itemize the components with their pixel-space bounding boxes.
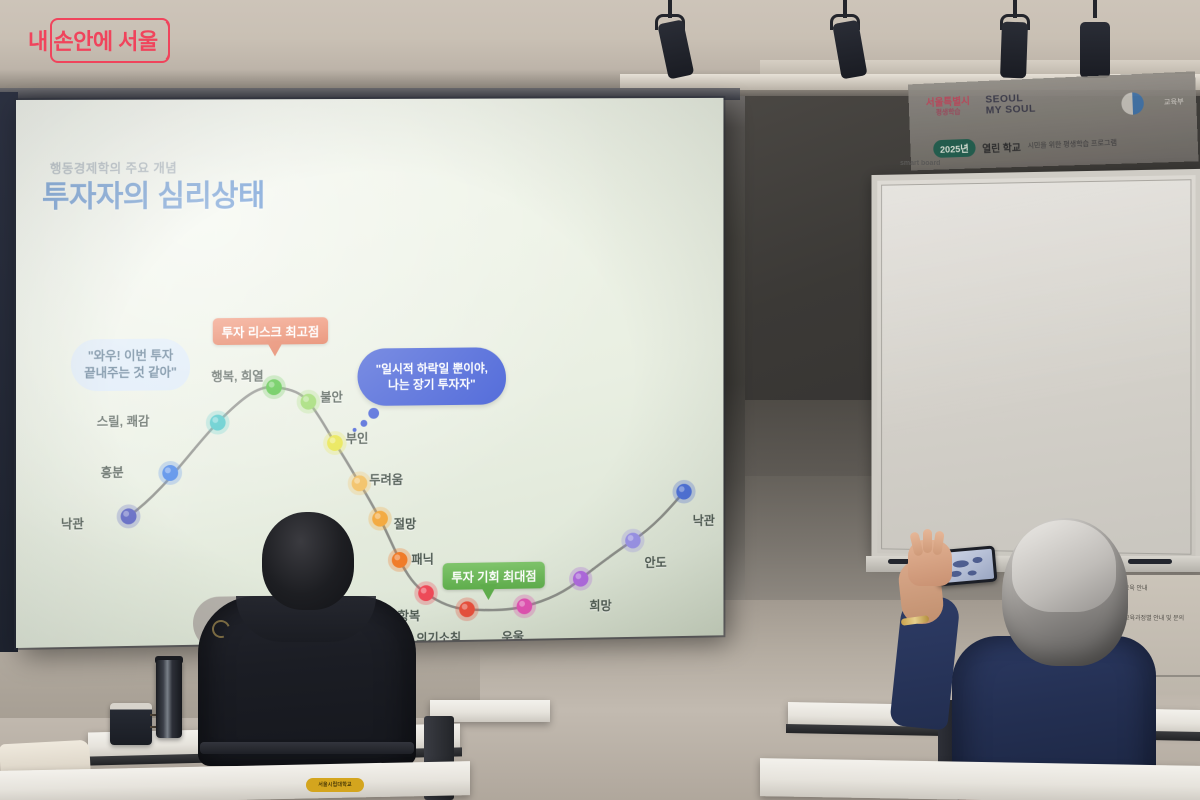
curve-label-6: 두려움: [369, 469, 403, 488]
banner-logo-seoul-lifelong: 서울특별시 평생학습: [926, 98, 971, 117]
watermark-text: 내 손안에 서울: [28, 24, 158, 56]
bubble-euphoria-line1: "와우! 이번 투자: [84, 348, 177, 366]
curve-label-5: 부인: [346, 428, 369, 447]
light-housing: [1080, 22, 1110, 78]
curve-label-3: 행복, 희열: [211, 365, 263, 384]
pouch: [110, 703, 152, 745]
curve-label-8: 패닉: [411, 549, 433, 568]
whiteboard-brand-label: smart board: [900, 160, 940, 167]
bubble-denial-tail-3: [353, 428, 357, 432]
track-light-3: [995, 0, 1035, 86]
gov-emblem-icon: [1121, 92, 1144, 115]
table-asset-sticker: 서울시립대학교: [306, 778, 364, 792]
banner-seoul-line2: MY SOUL: [986, 104, 1036, 117]
track-light-2: [825, 0, 865, 86]
bubble-denial-line2: 나는 장기 투자자": [376, 376, 488, 393]
banner-year-badge: 2025년: [933, 139, 976, 158]
bubble-denial-line1: "일시적 하락일 뿐이야,: [376, 360, 488, 377]
banner-subtext: 시민을 위한 평생학습 프로그램: [1027, 138, 1117, 151]
curve-label-0: 낙관: [61, 513, 84, 532]
curve-label-2: 스릴, 쾌감: [97, 410, 150, 430]
curve-label-1: 흥분: [101, 462, 124, 481]
seated-head: [262, 512, 354, 610]
bubble-euphoria: "와우! 이번 투자 끝내주는 것 같아": [71, 338, 190, 391]
callout-risk-arrow-icon: [266, 340, 284, 356]
bubble-euphoria-line2: 끝내주는 것 같아": [84, 364, 177, 382]
photographer-hand: [908, 540, 952, 586]
bubble-denial: "일시적 하락일 뿐이야, 나는 장기 투자자": [358, 347, 506, 406]
banner-gov-label: 교육부: [1164, 96, 1184, 107]
light-housing: [832, 20, 867, 80]
curve-label-4: 불안: [320, 386, 343, 405]
wall-banner: 서울특별시 평생학습 SEOUL MY SOUL 교육부 2025년 열린 학교…: [908, 71, 1198, 170]
lecture-room-photo: 서울특별시 평생학습 SEOUL MY SOUL 교육부 2025년 열린 학교…: [0, 0, 1200, 800]
tumbler: [156, 660, 182, 738]
whiteboard: [871, 169, 1200, 565]
light-housing: [1000, 22, 1028, 79]
track-light-1: [650, 0, 690, 86]
callout-opportunity-arrow-icon: [480, 584, 498, 600]
table-foreground-right: [760, 758, 1200, 800]
watermark-logo: 내 손안에 서울: [18, 18, 170, 63]
banner-logo-left-line1: 서울특별시: [926, 98, 970, 110]
poster-line-3: 교육과정별 안내 및 문의: [1124, 613, 1184, 622]
banner-headline: 열린 학교: [982, 139, 1021, 155]
bubble-denial-tail-2: [360, 420, 367, 427]
track-light-4: [1075, 0, 1115, 86]
bubble-denial-tail-1: [368, 408, 379, 419]
photographer-hair-highlight: [1012, 520, 1116, 612]
jacket-hem: [200, 742, 414, 754]
curve-label-14: 낙관: [693, 510, 715, 529]
whiteboard-marker-2: [1128, 559, 1172, 564]
curve-label-7: 절망: [394, 513, 417, 532]
whiteboard-surface: [881, 179, 1191, 555]
curve-label-13: 안도: [644, 552, 666, 571]
light-rod: [1093, 0, 1097, 18]
projector-screen: 행동경제학의 주요 개념 투자자의 심리상태 낙관흥분스릴, 쾌감행복, 희열불…: [16, 98, 723, 648]
banner-logo-seoul-my-soul: SEOUL MY SOUL: [985, 93, 1036, 117]
light-housing: [657, 19, 694, 79]
curve-label-12: 희망: [589, 595, 611, 614]
